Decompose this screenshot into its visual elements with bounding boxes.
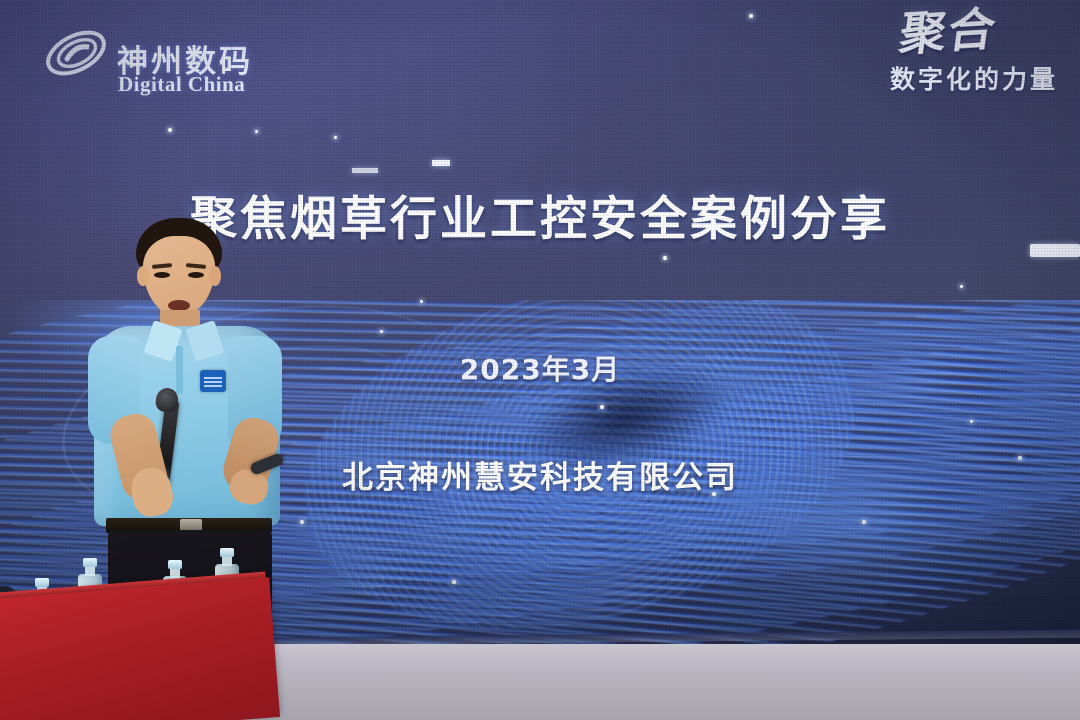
digital-china-swirl-icon bbox=[42, 24, 110, 82]
particle-dot bbox=[452, 580, 456, 584]
particle-dot bbox=[970, 420, 973, 423]
speaker-ear-left bbox=[137, 266, 149, 286]
particle-dot bbox=[168, 128, 172, 132]
speaker-eye-right bbox=[188, 272, 204, 278]
campaign-headline: 聚合 bbox=[779, 4, 1063, 64]
particle-dot bbox=[600, 405, 604, 409]
brand-name-en: Digital China bbox=[118, 72, 245, 97]
particle-dot bbox=[960, 285, 963, 288]
particle-dot bbox=[334, 136, 337, 139]
stage-photo: 神州数码 Digital China 聚合 数字化的力量 聚焦烟草行业工控安全案… bbox=[0, 0, 1080, 720]
bottle-cap bbox=[83, 558, 97, 567]
particle-dot bbox=[300, 520, 304, 524]
particle-bar bbox=[432, 160, 450, 166]
brand-logo: 神州数码 Digital China bbox=[42, 18, 297, 86]
speaker-shirt-placket bbox=[176, 346, 183, 394]
particle-bar bbox=[352, 168, 378, 173]
particle-dot bbox=[380, 330, 383, 333]
speaker-eye-left bbox=[154, 272, 170, 278]
particle-dot bbox=[255, 130, 258, 133]
shirt-logo-badge bbox=[200, 370, 226, 392]
particle-dot bbox=[420, 300, 423, 303]
bottle-cap bbox=[168, 560, 182, 569]
particle-dot bbox=[862, 520, 866, 524]
bottle-cap bbox=[35, 578, 49, 587]
particle-dot bbox=[663, 256, 667, 260]
campaign-subhead: 数字化的力量 bbox=[783, 60, 1058, 96]
red-table-cloth bbox=[0, 577, 280, 720]
speaker-ear-right bbox=[209, 266, 221, 286]
campaign-mark: 聚合 数字化的力量 bbox=[783, 12, 1058, 122]
bottle-cap bbox=[220, 548, 234, 557]
particle-dot bbox=[749, 14, 753, 18]
